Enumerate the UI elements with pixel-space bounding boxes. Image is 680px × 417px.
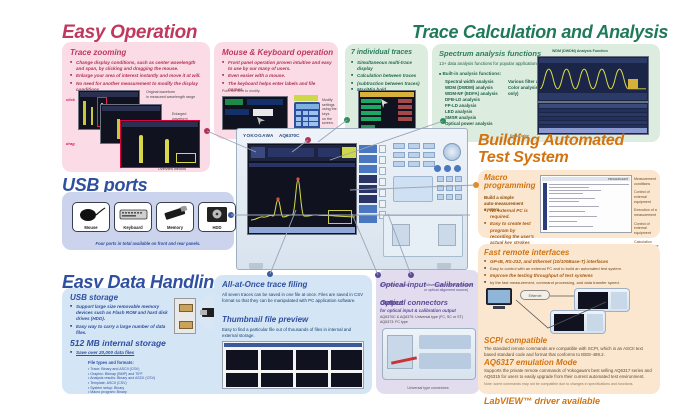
brochure-page: Easy Operation Trace zooming Change disp…	[0, 0, 680, 417]
callout-lines-svg	[0, 0, 680, 417]
